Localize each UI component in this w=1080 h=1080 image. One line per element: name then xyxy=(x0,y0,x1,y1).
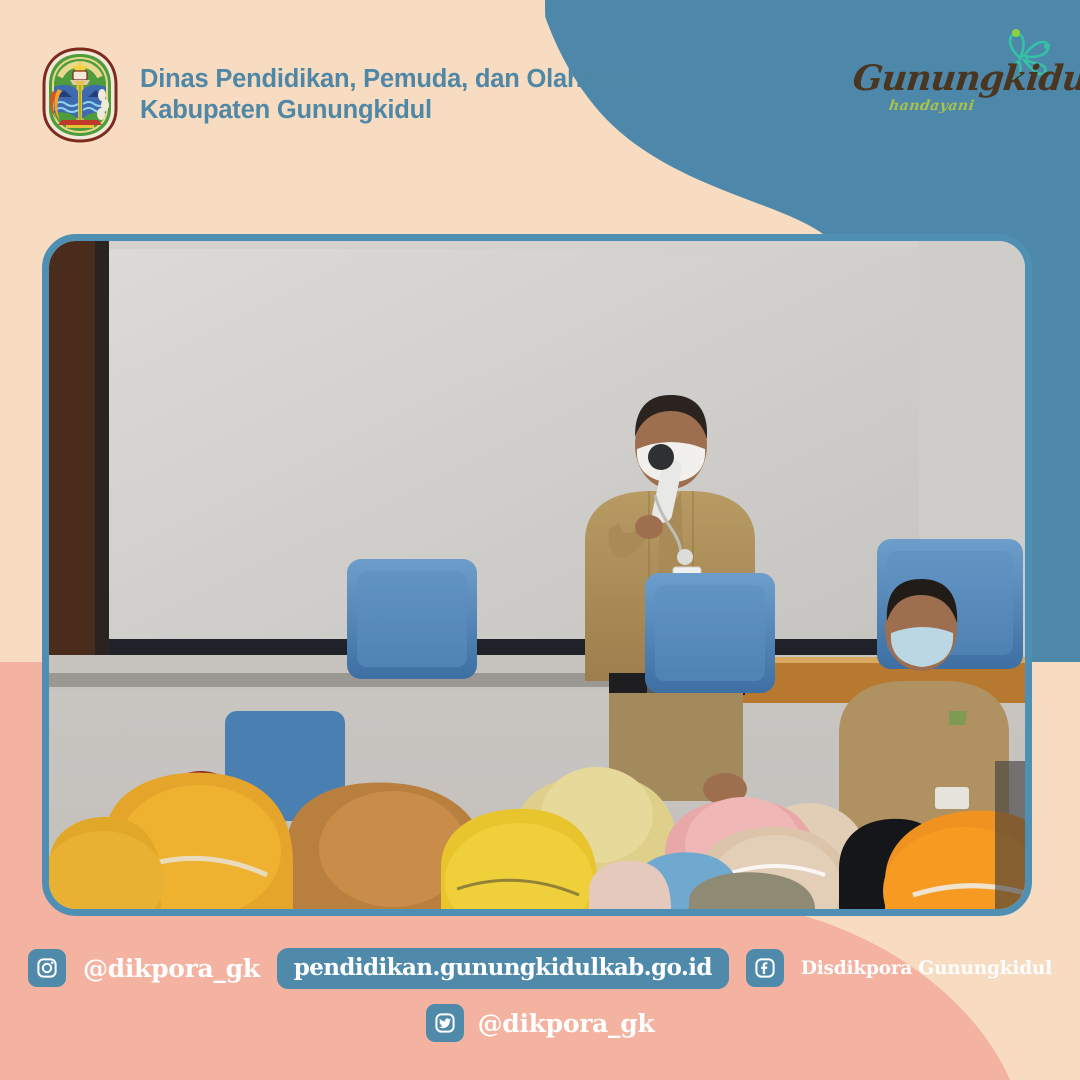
website-url-pill[interactable]: pendidikan.gunungkidulkab.go.id xyxy=(277,948,729,989)
footer-social-bar: @dikpora_gk pendidikan.gunungkidulkab.go… xyxy=(0,940,1080,1080)
twitter-handle[interactable]: @dikpora_gk xyxy=(478,1009,655,1038)
facebook-page-name[interactable]: Disdikpora Gunungkidul xyxy=(801,958,1052,979)
gunungkidul-regency-crest-icon xyxy=(40,47,120,143)
event-photo xyxy=(49,241,1025,909)
instagram-icon[interactable] xyxy=(28,949,66,987)
facebook-icon[interactable] xyxy=(746,949,784,987)
header-title-block: Dinas Pendidikan, Pemuda, dan Olahraga K… xyxy=(140,64,635,126)
header: Dinas Pendidikan, Pemuda, dan Olahraga K… xyxy=(0,0,820,190)
brand-tagline: handayani xyxy=(888,98,976,114)
poster-canvas: Dinas Pendidikan, Pemuda, dan Olahraga K… xyxy=(0,0,1080,1080)
gunungkidul-brand-logo: Gunungkidul handayani xyxy=(843,34,1058,124)
brand-wordmark: Gunungkidul xyxy=(851,58,1080,99)
photo-card xyxy=(42,234,1032,916)
page-title-line-2: Kabupaten Gunungkidul xyxy=(140,95,635,126)
page-title-line-1: Dinas Pendidikan, Pemuda, dan Olahraga xyxy=(140,64,635,95)
instagram-handle[interactable]: @dikpora_gk xyxy=(83,954,260,983)
twitter-icon[interactable] xyxy=(426,1004,464,1042)
